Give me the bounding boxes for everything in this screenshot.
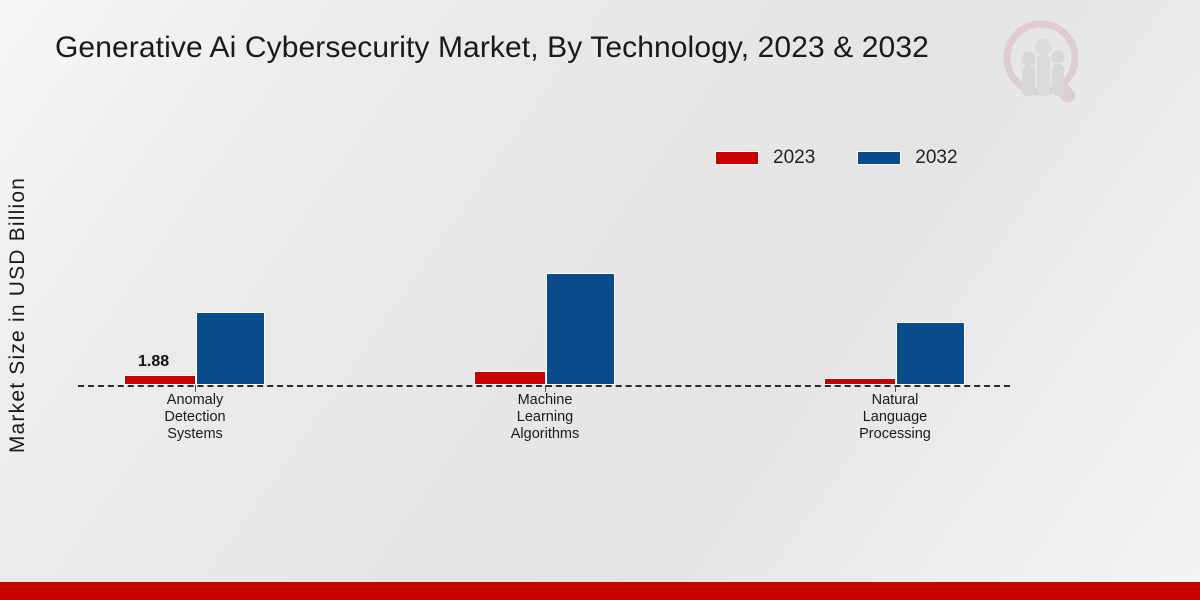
axis-tick-2 — [895, 385, 896, 392]
legend-item-2023[interactable]: 2023 — [715, 147, 815, 169]
bar-2032-anomaly-detection-systems[interactable] — [196, 312, 265, 385]
y-axis-title: Market Size in USD Billion — [6, 145, 30, 485]
bar-2023-anomaly-detection-systems[interactable] — [124, 375, 196, 385]
legend-label-2023: 2023 — [773, 147, 815, 169]
bar-2023-machine-learning-algorithms[interactable] — [474, 371, 546, 385]
category-label-0: Anomaly Detection Systems — [125, 392, 265, 443]
category-axis-line — [78, 385, 1010, 387]
legend-swatch-2032 — [857, 151, 901, 165]
bar-2032-machine-learning-algorithms[interactable] — [546, 273, 615, 385]
chart-page: Generative Ai Cybersecurity Market, By T… — [0, 0, 1200, 600]
chart-legend: 2023 2032 — [715, 147, 958, 169]
category-label-1: Machine Learning Algorithms — [475, 392, 615, 443]
chart-title: Generative Ai Cybersecurity Market, By T… — [55, 31, 1065, 65]
footer-accent-bar — [0, 582, 1200, 600]
legend-item-2032[interactable]: 2032 — [857, 147, 957, 169]
plot-area: 1.88 Anomaly Detection SystemsMachine Le… — [78, 170, 1010, 385]
axis-tick-1 — [545, 385, 546, 392]
legend-swatch-2023 — [715, 151, 759, 165]
bar-2032-natural-language-processing[interactable] — [896, 322, 965, 385]
axis-tick-0 — [195, 385, 196, 392]
legend-label-2032: 2032 — [915, 147, 957, 169]
bar-2023-anomaly-detection-systems-value-label: 1.88 — [138, 353, 169, 371]
category-label-2: Natural Language Processing — [825, 392, 965, 443]
bar-2023-natural-language-processing[interactable] — [824, 378, 896, 385]
